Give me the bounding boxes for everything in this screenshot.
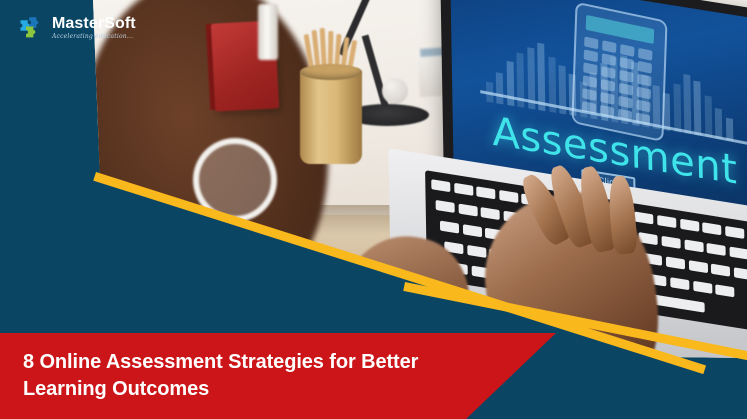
brand-name: MasterSoft [52, 16, 136, 32]
headline-line-1: 8 Online Assessment Strategies for Bette… [23, 349, 503, 376]
calculator-icon [571, 2, 667, 143]
page-title: 8 Online Assessment Strategies for Bette… [23, 349, 503, 403]
calculator-keys [582, 36, 657, 129]
blog-header-banner: Assessment Click Click here for more inf… [0, 0, 747, 419]
puzzle-pieces-icon [18, 14, 45, 41]
headline-line-2: Learning Outcomes [23, 376, 503, 403]
photo-pencil-cup [300, 68, 362, 164]
photo-pencil-cup-rim [300, 64, 362, 80]
brand-tagline: Accelerating education... [52, 34, 136, 40]
brand-logo[interactable]: MasterSoft Accelerating education... [18, 14, 136, 41]
photo-bottle [258, 4, 278, 60]
